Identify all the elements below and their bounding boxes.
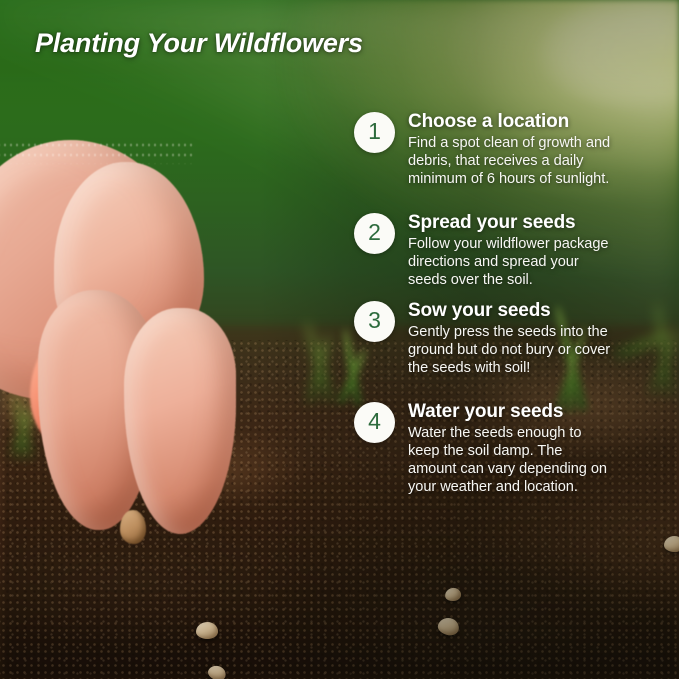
- step-number-badge: 4: [354, 402, 395, 443]
- step-text: Spread your seeds Follow your wildflower…: [408, 212, 614, 289]
- step-title: Sow your seeds: [408, 300, 614, 322]
- step-title: Choose a location: [408, 111, 614, 133]
- step-number: 2: [368, 221, 381, 244]
- step-number-badge: 2: [354, 213, 395, 254]
- step-number: 1: [368, 120, 381, 143]
- steps-list: 1 Choose a location Find a spot clean of…: [354, 111, 614, 496]
- step-text: Sow your seeds Gently press the seeds in…: [408, 300, 614, 377]
- step-number-badge: 1: [354, 112, 395, 153]
- page-title: Planting Your Wildflowers: [35, 28, 363, 59]
- step-number: 3: [368, 309, 381, 332]
- step-number: 4: [368, 410, 381, 433]
- list-item: 1 Choose a location Find a spot clean of…: [354, 111, 614, 188]
- list-item: 2 Spread your seeds Follow your wildflow…: [354, 212, 614, 289]
- infographic-poster: Planting Your Wildflowers 1 Choose a loc…: [0, 0, 679, 679]
- step-number-badge: 3: [354, 301, 395, 342]
- step-title: Water your seeds: [408, 401, 614, 423]
- step-body: Gently press the seeds into the ground b…: [408, 323, 614, 377]
- content-overlay: Planting Your Wildflowers 1 Choose a loc…: [0, 0, 679, 679]
- step-body: Find a spot clean of growth and debris, …: [408, 134, 614, 188]
- step-text: Water your seeds Water the seeds enough …: [408, 401, 614, 496]
- list-item: 3 Sow your seeds Gently press the seeds …: [354, 300, 614, 377]
- list-item: 4 Water your seeds Water the seeds enoug…: [354, 401, 614, 496]
- step-body: Follow your wildflower package direction…: [408, 235, 614, 289]
- step-body: Water the seeds enough to keep the soil …: [408, 424, 614, 496]
- step-title: Spread your seeds: [408, 212, 614, 234]
- step-text: Choose a location Find a spot clean of g…: [408, 111, 614, 188]
